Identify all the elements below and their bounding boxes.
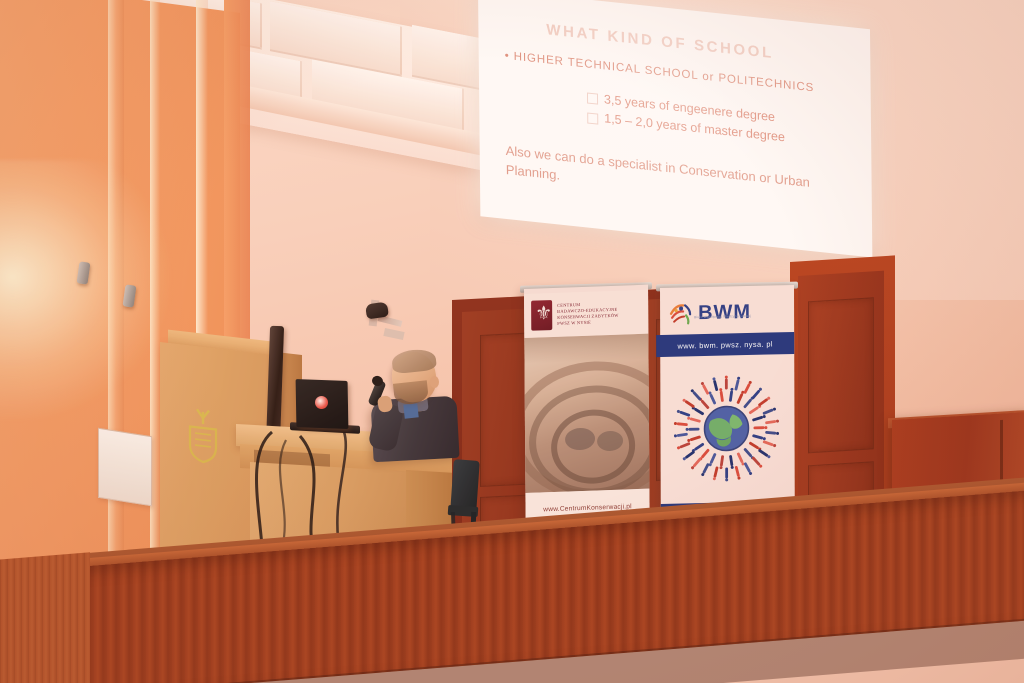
stage-left-return: [0, 552, 90, 683]
banner-centrum-photo: [524, 334, 649, 493]
lecture-hall-photo: WHAT KIND OF SCHOOL • HIGHER TECHNICAL S…: [0, 0, 1024, 683]
banner-bwm-header: BWM: [660, 291, 794, 334]
checkbox-icon: [587, 93, 598, 105]
laptop-sticker-icon: [315, 396, 328, 409]
projection-screen: WHAT KIND OF SCHOOL • HIGHER TECHNICAL S…: [478, 0, 872, 258]
banner-bwm-title: BWM: [698, 302, 751, 323]
wall-light-glow: [0, 160, 170, 420]
banner-bwm-url-bar: www. bwm. pwsz. nysa. pl: [656, 332, 794, 357]
banner-bwm-url: www. bwm. pwsz. nysa. pl: [677, 339, 772, 350]
slide-sublines: 3,5 years of engeenere degree 1,5 – 2,0 …: [587, 88, 847, 154]
checkbox-icon: [587, 112, 598, 124]
fleur-de-lis-icon: ⚜: [531, 300, 552, 331]
globe-people-graphic: [670, 371, 782, 486]
banner-centrum-header: ⚜ CENTRUM BADAWCZO-EDUKACYJNE KONSERWACJ…: [524, 290, 648, 338]
presenter-ear: [430, 376, 439, 388]
bwm-swirl-logo-icon: [668, 301, 694, 326]
presenter-shirt: [403, 403, 418, 418]
slide-content: WHAT KIND OF SCHOOL • HIGHER TECHNICAL S…: [478, 0, 872, 258]
coat-of-arms-icon: [184, 406, 222, 466]
slide-footer: Also we can do a specialist in Conservat…: [506, 141, 848, 216]
wall-access-panel: [98, 428, 152, 507]
banner-centrum-logo-text: CENTRUM BADAWCZO-EDUKACYJNE KONSERWACJI …: [557, 300, 619, 327]
